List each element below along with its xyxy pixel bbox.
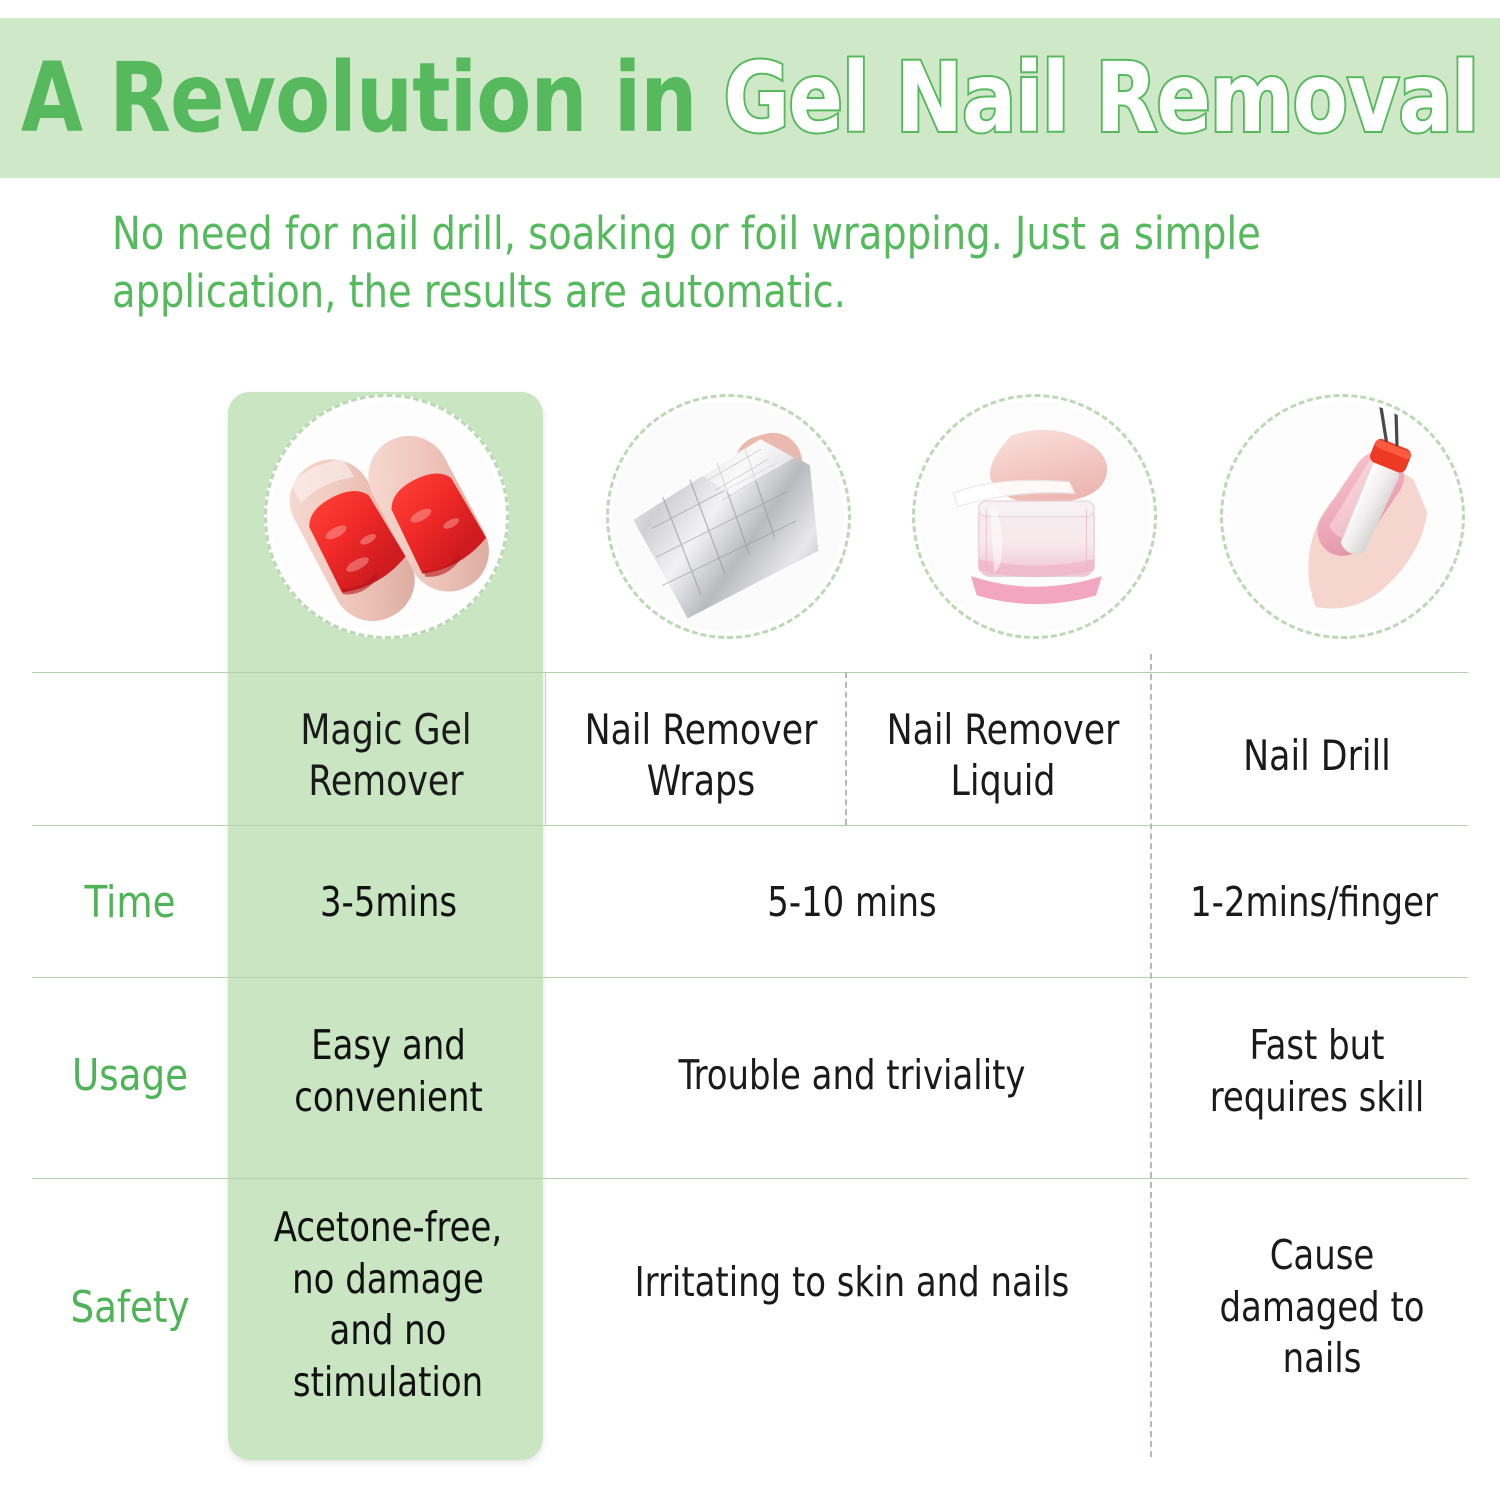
header-banner: A Revolution in Gel Nail Removal <box>0 18 1500 178</box>
row-label-safety: Safety <box>38 1282 222 1333</box>
rule-after-time <box>32 977 1468 978</box>
cell-time-wraps-and-liquid: 5-10 mins <box>585 877 1119 929</box>
cell-usage-magic-gel-remover: Easy and convenient <box>267 1020 511 1123</box>
rule-after-usage <box>32 1178 1468 1179</box>
cell-safety-magic-gel-remover: Acetone-free, no damage and no stimulati… <box>258 1202 517 1409</box>
column-header-magic-gel-remover: Magic Gel Remover <box>266 704 505 806</box>
column-header-nail-remover-liquid: Nail Remover Liquid <box>879 704 1127 806</box>
rule-after-header <box>32 825 1468 826</box>
comparison-table: Magic Gel Remover Nail Remover Wraps Nai… <box>32 372 1468 1457</box>
cell-usage-wraps-and-liquid: Trouble and triviality <box>585 1050 1119 1102</box>
cell-usage-nail-drill: Fast but requires skill <box>1184 1020 1451 1123</box>
page-title: A Revolution in Gel Nail Removal <box>21 50 1478 146</box>
infographic-page: A Revolution in Gel Nail Removal No need… <box>0 0 1500 1500</box>
divider-col3-col4 <box>1150 654 1152 1457</box>
column-header-nail-drill: Nail Drill <box>1193 730 1441 781</box>
title-outline-part: Gel Nail Removal <box>724 42 1479 154</box>
row-label-time: Time <box>38 877 222 928</box>
cell-time-nail-drill: 1-2mins/finger <box>1176 877 1452 929</box>
cell-safety-nail-drill: Cause damaged to nails <box>1193 1230 1451 1385</box>
row-label-usage: Usage <box>38 1050 222 1101</box>
divider-col1-col2 <box>545 672 546 825</box>
cell-safety-wraps-and-liquid: Irritating to skin and nails <box>585 1257 1119 1309</box>
rule-header-top <box>32 672 1468 673</box>
divider-col2-col3 <box>845 672 847 825</box>
title-green-part: A Revolution in <box>21 42 724 154</box>
column-header-nail-remover-wraps: Nail Remover Wraps <box>577 704 825 806</box>
cell-time-magic-gel-remover: 3-5mins <box>267 877 511 929</box>
subtitle-text: No need for nail drill, soaking or foil … <box>112 205 1338 320</box>
